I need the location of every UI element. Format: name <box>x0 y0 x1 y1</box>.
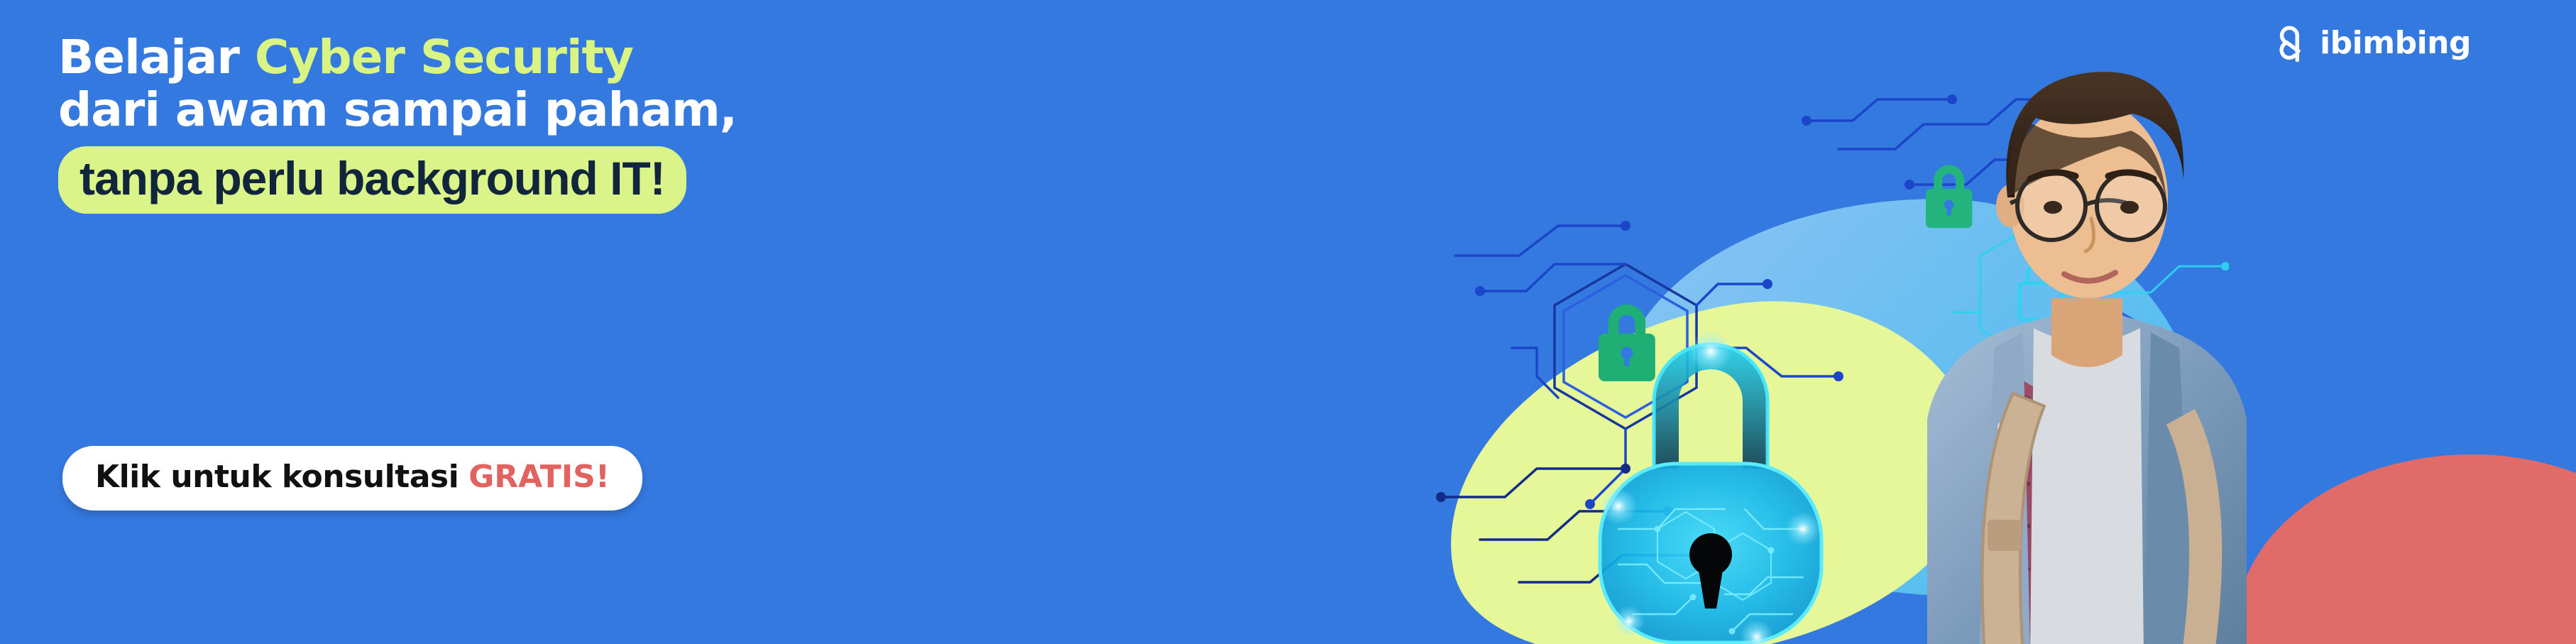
cyber-padlock-graphic <box>1590 316 1831 644</box>
lime-blob-decoration <box>1411 260 2010 644</box>
headline-block: Belajar Cyber Security dari awam sampai … <box>58 31 1166 214</box>
headline-highlight-pill: tanpa perlu background IT! <box>58 146 686 214</box>
cta-emphasis-label: GRATIS! <box>468 459 610 495</box>
logo-wordmark: ibimbing <box>2320 28 2471 59</box>
brand-logo[interactable]: ibimbing <box>2271 21 2471 65</box>
cyan-blob-decoration <box>1618 199 2200 596</box>
hex-padlock-top <box>1926 165 1972 228</box>
headline-line-1-plain: Belajar <box>58 30 255 84</box>
headline-line-2: dari awam sampai paham, <box>58 84 1166 136</box>
headline-line-1-accent: Cyber Security <box>255 30 633 84</box>
coral-blob-decoration <box>2236 454 2576 644</box>
circuit-hexagon-graphic <box>1413 43 2229 644</box>
hex-padlock-right <box>2019 262 2063 320</box>
promo-banner: ibimbing Belajar Cyber Security dari awa… <box>0 0 2576 644</box>
page-title: Belajar Cyber Security dari awam sampai … <box>58 31 1166 136</box>
keyhole-icon <box>1689 533 1732 608</box>
headline-line-1: Belajar Cyber Security <box>58 31 1166 84</box>
hex-padlock-left <box>1599 305 1655 381</box>
cta-label: Klik untuk konsultasi <box>95 459 459 495</box>
student-photo <box>1817 0 2357 644</box>
consultation-cta-button[interactable]: Klik untuk konsultasi GRATIS! <box>62 446 642 511</box>
ibimbing-monogram-icon <box>2271 23 2313 64</box>
